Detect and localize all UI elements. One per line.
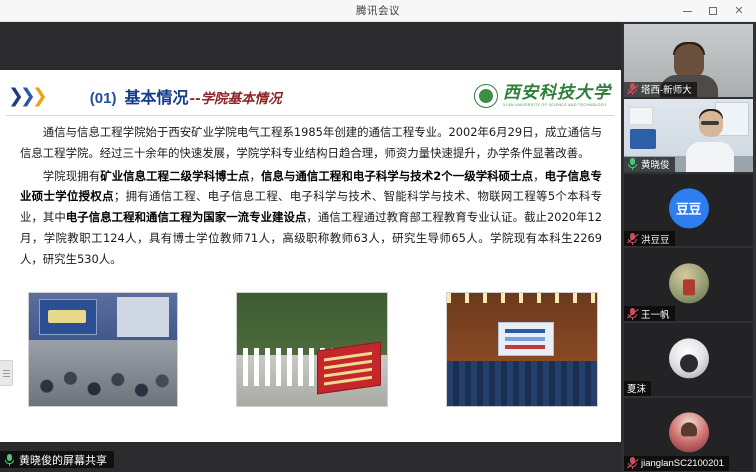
slide-paragraph: 学院现拥有矿业信息工程二级学科博士点，信息与通信工程和电子科学与技术2个一级学科… (20, 166, 602, 270)
avatar (669, 413, 709, 453)
participant-name-chip: jianglanSC2100201 (624, 456, 729, 471)
participant-tile[interactable]: 夏沫 (624, 323, 753, 396)
chevron-right-icon: ❯❯❯ (8, 87, 44, 106)
avatar (669, 338, 709, 378)
microphone-muted-icon (627, 457, 638, 469)
slide-paragraph: 通信与信息工程学院始于西安矿业学院电气工程系1985年创建的通信工程专业。200… (20, 122, 602, 164)
participant-name: 塔西-新师大 (641, 82, 692, 96)
sidebar-collapse-handle[interactable] (0, 360, 13, 386)
participant-tile[interactable]: 豆豆洪豆豆 (624, 174, 753, 247)
microphone-muted-icon (627, 308, 638, 320)
participant-tile[interactable]: jianglanSC2100201 (624, 398, 753, 471)
participant-name: 王一帆 (641, 307, 670, 321)
university-seal-icon (474, 84, 498, 108)
maximize-button[interactable] (700, 1, 726, 21)
meeting-body: ❯❯❯ (01) 基本情况 --学院基本情况 西安科技大学 XI'AN UNIV… (0, 22, 756, 472)
avatar-initials: 豆豆 (676, 199, 701, 218)
participant-name-chip: 洪豆豆 (624, 231, 675, 246)
slide-header-divider (6, 115, 614, 116)
maximize-icon (709, 7, 717, 15)
avatar: 豆豆 (669, 188, 709, 228)
window-titlebar: 腾讯会议 ✕ (0, 0, 756, 22)
microphone-muted-icon (627, 233, 638, 245)
slide-header: ❯❯❯ (01) 基本情况 --学院基本情况 西安科技大学 XI'AN UNIV… (0, 78, 621, 114)
slide-photo-strip (28, 292, 598, 407)
university-name-cn: 西安科技大学 (503, 85, 611, 102)
presentation-slide: ❯❯❯ (01) 基本情况 --学院基本情况 西安科技大学 XI'AN UNIV… (0, 70, 621, 442)
participant-name: 夏沫 (627, 381, 646, 395)
slide-text-run: 通信与信息工程学院始于西安矿业学院电气工程系1985年创建的通信工程专业。200… (20, 125, 602, 160)
participant-name: jianglanSC2100201 (641, 458, 724, 469)
participant-name-chip: 夏沫 (624, 381, 651, 396)
slide-text-emphasis: 信息与通信工程和电子科学与技术2个一级学科硕士点 (261, 169, 533, 183)
participant-name: 黄晓俊 (641, 157, 670, 171)
shared-screen-stage[interactable]: ❯❯❯ (01) 基本情况 --学院基本情况 西安科技大学 XI'AN UNIV… (0, 22, 621, 472)
slide-title-main: 基本情况 (124, 84, 188, 108)
tencent-meeting-window: 腾讯会议 ✕ ❯❯❯ (01) (0, 0, 756, 472)
participant-tile[interactable]: 塔西-新师大 (624, 24, 753, 97)
window-controls: ✕ (674, 0, 752, 22)
slide-title-sub: --学院基本情况 (189, 87, 281, 107)
slide-text-emphasis: 电子信息工程和通信工程为国家一流专业建设点 (66, 210, 307, 224)
participant-name: 洪豆豆 (641, 232, 670, 246)
microphone-muted-icon (627, 83, 638, 95)
university-name-en: XI'AN UNIVERSITY OF SCIENCE AND TECHNOLO… (503, 104, 611, 108)
photo-outdoor-ceremony (236, 292, 388, 407)
participant-name-chip: 黄晓俊 (624, 157, 675, 172)
close-icon: ✕ (734, 6, 743, 17)
window-title: 腾讯会议 (356, 3, 400, 18)
photo-auditorium (446, 292, 598, 407)
participant-name-chip: 塔西-新师大 (624, 82, 697, 97)
microphone-on-icon (4, 454, 15, 466)
close-button[interactable]: ✕ (726, 1, 752, 21)
slide-title-number: (01) (90, 90, 117, 107)
photo-meeting-room (28, 292, 178, 407)
slide-title: (01) 基本情况 --学院基本情况 (90, 84, 282, 108)
participant-tile[interactable]: 王一帆 (624, 248, 753, 321)
participant-tile[interactable]: 黄晓俊 (624, 99, 753, 172)
minimize-button[interactable] (674, 1, 700, 21)
screen-share-owner: 黄晓俊的屏幕共享 (19, 452, 107, 468)
slide-text-run: ， (533, 169, 544, 183)
university-logo: 西安科技大学 XI'AN UNIVERSITY OF SCIENCE AND T… (474, 84, 611, 108)
minimize-icon (683, 11, 692, 12)
avatar (669, 263, 709, 303)
slide-text-emphasis: 矿业信息工程二级学科博士点 (100, 169, 249, 183)
slide-body-text: 通信与信息工程学院始于西安矿业学院电气工程系1985年创建的通信工程专业。200… (20, 122, 602, 271)
slide-text-run: ， (250, 169, 261, 183)
slide-text-run: 学院现拥有 (43, 169, 100, 183)
microphone-on-icon (627, 158, 638, 170)
screen-share-label: 黄晓俊的屏幕共享 (0, 451, 114, 468)
participant-name-chip: 王一帆 (624, 306, 675, 321)
participant-filmstrip[interactable]: 塔西-新师大黄晓俊豆豆洪豆豆王一帆夏沫jianglanSC2100201 (621, 22, 756, 472)
